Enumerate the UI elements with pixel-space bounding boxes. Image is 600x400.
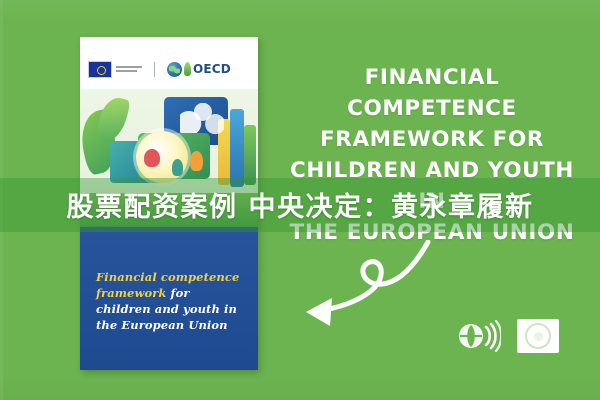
globe-icon: [167, 62, 182, 77]
illustration-figure-red: [144, 149, 160, 167]
illustration-stripe-green: [244, 125, 256, 185]
footer-icon-row: [455, 316, 559, 356]
eu-flag-icon: [88, 61, 112, 78]
illustration-bubbles: [180, 103, 224, 137]
broadcast-globe-icon: [455, 316, 501, 356]
illustration-figure-orange: [190, 151, 203, 171]
european-commission-wordmark: [115, 66, 142, 72]
leaf-icon: [184, 62, 191, 76]
cover-logo-row: OECD: [88, 56, 250, 82]
headline-line-1: FINANCIAL COMPETENCE: [276, 62, 588, 124]
illustration-stripe-blue: [230, 109, 244, 187]
oecd-logo: OECD: [167, 62, 231, 77]
illustration-leaf-small: [95, 95, 131, 144]
illustration-figure-teal: [172, 159, 183, 176]
cover-title-panel: Financial competence framework for child…: [80, 227, 258, 370]
curved-arrow-icon: [288, 240, 438, 350]
cover-title: Financial competence framework for child…: [96, 269, 242, 333]
logo-divider: [154, 62, 155, 77]
white-card-icon: [517, 319, 559, 353]
headline-line-2: FRAMEWORK FOR: [276, 124, 588, 155]
oecd-wordmark: OECD: [193, 62, 231, 76]
promo-banner: OECD Financial competence framework for …: [0, 0, 600, 400]
card-emblem-icon: [525, 323, 551, 349]
european-commission-logo: [88, 61, 142, 78]
overlay-caption: 股票配资案例 中央决定：黄永章履新: [0, 182, 600, 226]
